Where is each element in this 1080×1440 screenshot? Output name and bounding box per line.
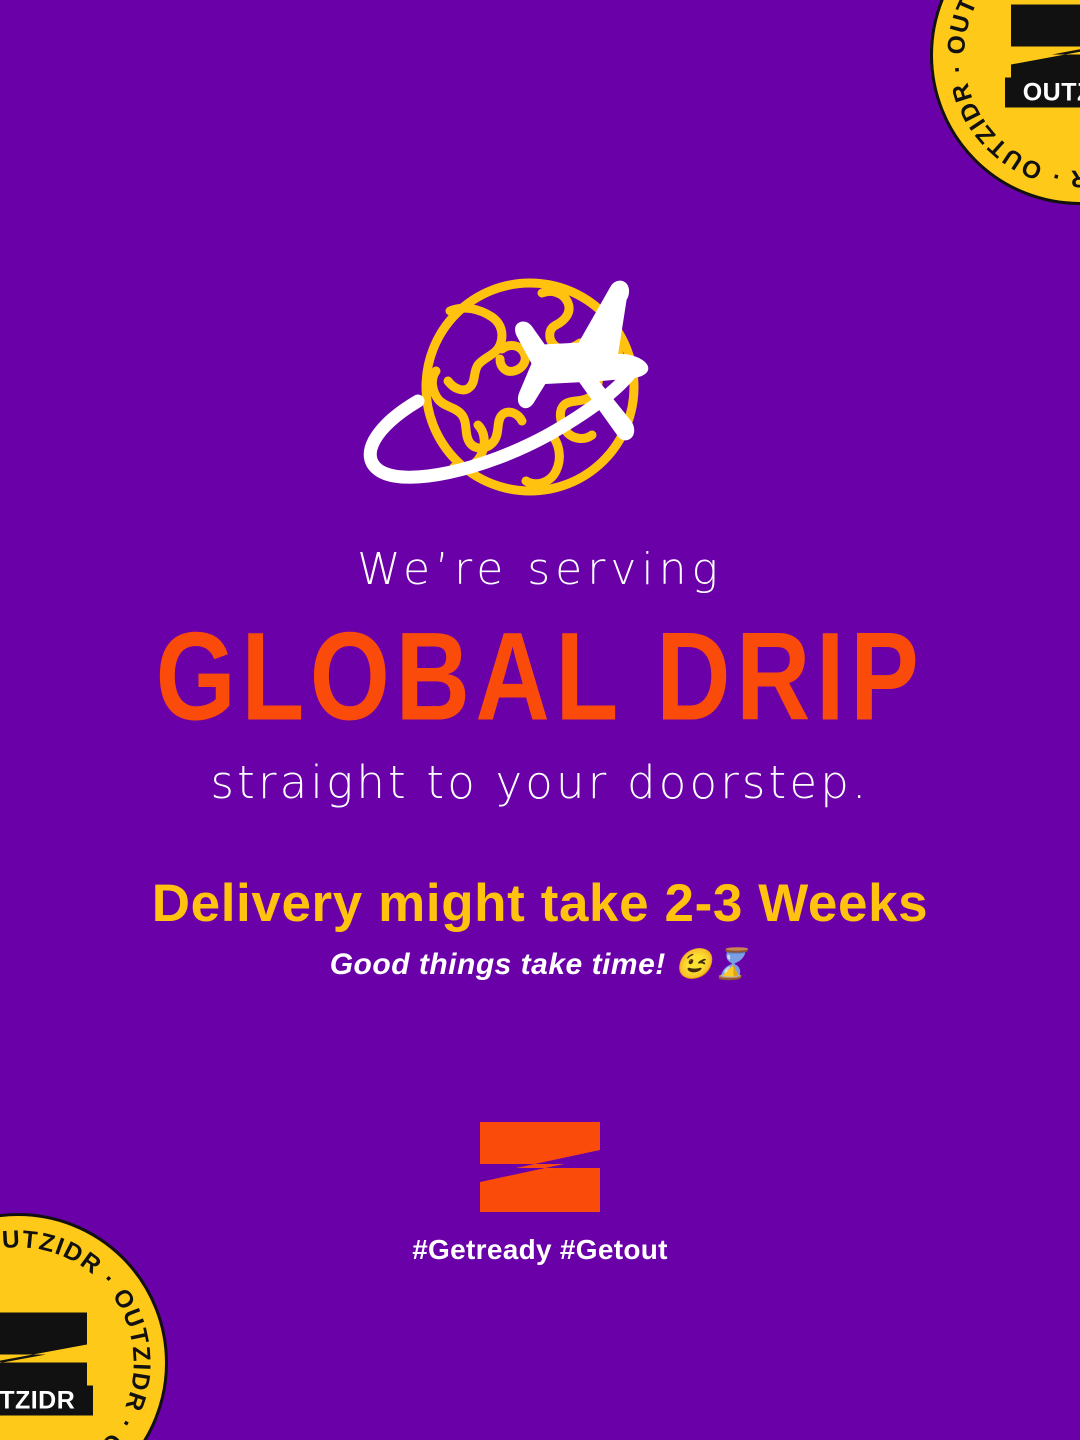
globe-with-airplane-icon [352,275,722,515]
subhead-text: straight to your doorstep. [0,760,1080,805]
reassurance-text: Good things take time! 😉⌛ [0,950,1080,980]
seal-wordmark: OUTZIDR [0,1386,93,1416]
eyebrow-text: We’re serving [0,548,1080,592]
outzidr-seal-bottom-left: OUTZIDR · OUTZIDR · OUTZIDR · OUTZIDR · … [0,1213,168,1440]
promo-poster: OUTZIDR · OUTZIDR · OUTZIDR · OUTZIDR · … [0,0,1080,1440]
headline-text: GLOBAL DRIP [43,614,1037,739]
message-block: We’re serving GLOBAL DRIP straight to yo… [0,548,1080,980]
delivery-note-text: Delivery might take 2-3 Weeks [0,877,1080,930]
seal-core-top-right: OUTZIDR [1005,3,1080,108]
tagline-text: #Getready #Getout [412,1236,668,1264]
seal-core-bottom-left: OUTZIDR [0,1311,93,1416]
outzidr-seal-top-right: OUTZIDR · OUTZIDR · OUTZIDR · OUTZIDR · … [930,0,1080,205]
seal-wordmark: OUTZIDR [1005,78,1080,108]
outzidr-z-logo-icon [478,1122,602,1212]
